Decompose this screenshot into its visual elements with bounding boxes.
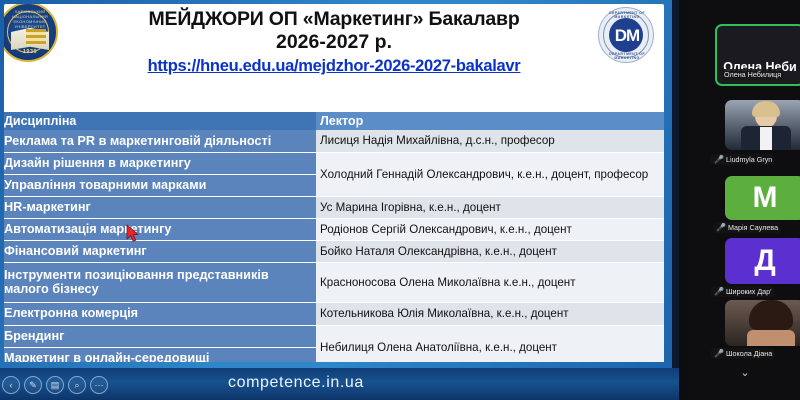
hneu-logo-arc-text: ХАРКІВСЬКИЙ НАЦІОНАЛЬНИЙ ЕКОНОМІЧНИЙ УНІ… <box>4 9 60 29</box>
participant-avatar-initial: М <box>725 176 800 220</box>
table-row: Брендинг Небилиця Олена Анатоліївна, к.е… <box>4 325 664 347</box>
cell-discipline: Маркетинг в онлайн-середовищі <box>4 347 316 362</box>
mouse-cursor <box>126 224 140 243</box>
column-header-discipline: Дисципліна <box>4 112 316 130</box>
cell-lecturer: Красноносова Олена Миколаївна к.е.н., до… <box>316 262 664 302</box>
cell-discipline: HR-маркетинг <box>4 196 316 218</box>
cell-discipline: Інструменти позиціювання представників м… <box>4 262 316 302</box>
participant-name-label: Олена Небилиця <box>724 70 781 79</box>
cell-discipline: Управління товарними марками <box>4 174 316 196</box>
presenter-toolbar[interactable]: ‹ ✎ ▤ ⌕ ⋯ <box>2 376 108 394</box>
table-row: Фінансовий маркетинг Бойко Наталя Олекса… <box>4 240 664 262</box>
participant-name-chip: 🎤 Liudmyla Gryn <box>711 154 775 165</box>
cell-lecturer: Родіонов Сергій Олександрович, к.е.н., д… <box>316 218 664 240</box>
footer-site-label: competence.in.ua <box>228 374 364 392</box>
dm-logo-monogram: DM <box>599 26 655 46</box>
microphone-muted-icon: 🎤 <box>714 350 724 358</box>
meeting-screen-share-window: ХАРКІВСЬКИЙ НАЦІОНАЛЬНИЙ ЕКОНОМІЧНИЙ УНІ… <box>0 0 800 400</box>
table-row: HR-маркетинг Ус Марина Ігорівна, к.е.н.,… <box>4 196 664 218</box>
participant-tile-initial[interactable]: М <box>725 176 800 220</box>
cell-discipline: Електронна комерція <box>4 302 316 325</box>
participant-tile-initial[interactable]: Д <box>725 238 800 284</box>
more-options-icon[interactable]: ⋯ <box>90 376 108 394</box>
participant-tile-video[interactable] <box>725 300 800 346</box>
participant-name-label: Liudmyla Gryn <box>726 155 772 164</box>
cell-discipline: Дизайн рішення в маркетингу <box>4 152 316 174</box>
table-row: Дизайн рішення в маркетингу Холодний Ген… <box>4 152 664 174</box>
slide-footer-bar: ‹ ✎ ▤ ⌕ ⋯ competence.in.ua <box>0 368 679 400</box>
table-row: Реклама та PR в маркетинговій діяльності… <box>4 130 664 152</box>
expand-participants-chevron-down-icon[interactable]: ⌄ <box>726 364 764 380</box>
all-slides-icon[interactable]: ▤ <box>46 376 64 394</box>
presentation-slide: ХАРКІВСЬКИЙ НАЦІОНАЛЬНИЙ ЕКОНОМІЧНИЙ УНІ… <box>0 0 679 368</box>
slide-right-edge <box>672 0 679 368</box>
hneu-university-logo: ХАРКІВСЬКИЙ НАЦІОНАЛЬНИЙ ЕКОНОМІЧНИЙ УНІ… <box>4 4 60 92</box>
table-row: Автоматизація маркетингу Родіонов Сергій… <box>4 218 664 240</box>
panel-divider[interactable] <box>679 0 689 400</box>
cell-discipline: Фінансовий маркетинг <box>4 240 316 262</box>
participant-name-chip: 🎤 Шокола Діана <box>711 348 775 359</box>
column-header-lecturer: Лектор <box>316 112 664 130</box>
participant-name-label: Марія Саулева <box>728 223 778 232</box>
microphone-muted-icon: 🎤 <box>714 156 724 164</box>
magnifier-icon[interactable]: ⌕ <box>68 376 86 394</box>
participant-tile-active-speaker[interactable]: Олена Неби Олена Небилиця <box>715 24 800 86</box>
participant-rail: Олена Неби Олена Небилиця 🎤 Liudmyla Gry… <box>689 0 800 400</box>
cell-discipline: Брендинг <box>4 325 316 347</box>
dm-logo-arc-bottom: DEPARTMENT OF MARKETING <box>599 52 655 60</box>
chevron-left-icon[interactable]: ‹ <box>2 376 20 394</box>
cell-lecturer: Холодний Геннадій Олександрович, к.е.н.,… <box>316 152 664 196</box>
table-header-row: Дисципліна Лектор <box>4 112 664 130</box>
cell-lecturer: Лисиця Надія Михайлівна, д.с.н., професо… <box>316 130 664 152</box>
department-of-marketing-logo: DEPARTMENT OF MARKETING DM DEPARTMENT OF… <box>598 7 654 63</box>
microphone-muted-icon: 🎤 <box>716 224 726 232</box>
participant-avatar-initial: Д <box>725 238 800 284</box>
hneu-logo-year: 1930 <box>4 49 60 55</box>
shared-slide-stage: ХАРКІВСЬКИЙ НАЦІОНАЛЬНИЙ ЕКОНОМІЧНИЙ УНІ… <box>0 0 679 400</box>
program-link[interactable]: https://hneu.edu.ua/mejdzhor-2026-2027-b… <box>64 57 604 76</box>
cell-lecturer: Ус Марина Ігорівна, к.е.н., доцент <box>316 196 664 218</box>
slide-white-card: ХАРКІВСЬКИЙ НАЦІОНАЛЬНИЙ ЕКОНОМІЧНИЙ УНІ… <box>4 4 664 362</box>
table-row: Інструменти позиціювання представників м… <box>4 262 664 302</box>
participant-name-chip: 🎤 Широких Дар' <box>711 286 775 297</box>
participant-name-chip: Олена Небилиця <box>721 69 784 80</box>
cell-discipline: Автоматизація маркетингу <box>4 218 316 240</box>
participant-name-chip: 🎤 Марія Саулева <box>713 222 781 233</box>
slide-title-line1: МЕЙДЖОРИ ОП «Маркетинг» Бакалавр <box>64 8 604 31</box>
table-row: Електронна комерція Котельникова Юлія Ми… <box>4 302 664 325</box>
cell-lecturer: Бойко Наталя Олександрівна, к.е.н., доце… <box>316 240 664 262</box>
cell-lecturer: Небилиця Олена Анатоліївна, к.е.н., доце… <box>316 325 664 362</box>
slide-title-line2: 2026-2027 р. <box>64 31 604 54</box>
cell-lecturer: Котельникова Юлія Миколаївна, к.е.н., до… <box>316 302 664 325</box>
participant-name-label: Шокола Діана <box>726 349 772 358</box>
majors-table: Дисципліна Лектор Реклама та PR в маркет… <box>4 112 664 362</box>
pen-icon[interactable]: ✎ <box>24 376 42 394</box>
cell-discipline: Реклама та PR в маркетинговій діяльності <box>4 130 316 152</box>
slide-title-block: МЕЙДЖОРИ ОП «Маркетинг» Бакалавр 2026-20… <box>64 8 604 76</box>
participant-tile-video[interactable] <box>725 100 800 150</box>
microphone-muted-icon: 🎤 <box>714 288 724 296</box>
participant-name-label: Широких Дар' <box>726 287 772 296</box>
